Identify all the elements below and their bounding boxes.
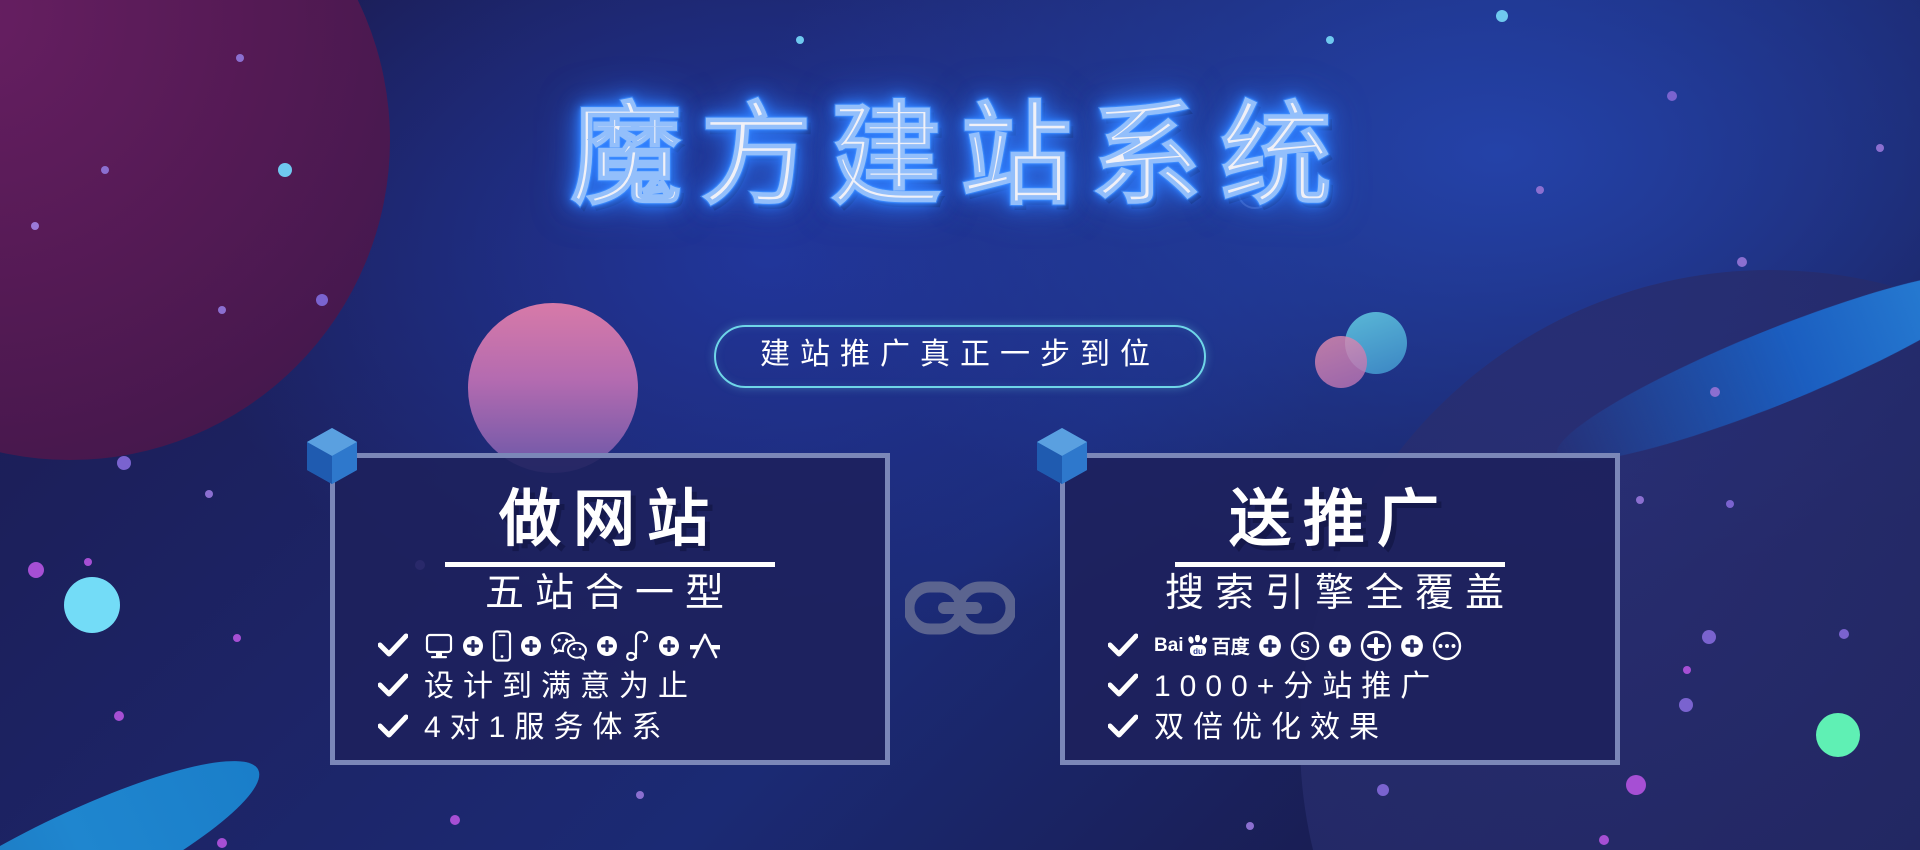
- card-left-title: 做网站: [499, 487, 721, 552]
- decor-dot: [1377, 784, 1389, 796]
- card-left-feature-icons: [366, 630, 854, 662]
- purple-blob-shape: [0, 0, 390, 460]
- card-left-feature-3: 4对1服务体系: [366, 711, 854, 744]
- decor-dot: [1496, 10, 1508, 22]
- plus-icon: [520, 635, 542, 657]
- decor-dot: [217, 838, 227, 848]
- check-icon: [378, 673, 408, 699]
- search-engine-icon-list: Bai du 百度: [1154, 630, 1462, 662]
- card-right-feature-2: 1000+分站推广: [1096, 670, 1584, 703]
- decor-dot: [114, 711, 124, 721]
- decor-dot: [218, 306, 226, 314]
- decor-dot: [31, 222, 39, 230]
- app-store-icon: [688, 631, 722, 661]
- decor-dot: [1726, 500, 1734, 508]
- decor-dot: [1816, 713, 1860, 757]
- decor-dot: [1683, 666, 1691, 674]
- comet-streak-left: [0, 728, 278, 850]
- more-icon: [1432, 631, 1462, 661]
- title-block: 魔方建站系统: [0, 96, 1920, 217]
- card-left-feature-2: 设计到满意为止: [366, 670, 854, 703]
- decor-dot: [796, 36, 804, 44]
- decor-dot: [1246, 822, 1254, 830]
- decor-dot: [233, 634, 241, 642]
- decor-dot: [84, 558, 92, 566]
- decor-dot: [1326, 36, 1334, 44]
- decor-dot: [117, 456, 131, 470]
- page-title: 魔方建站系统: [570, 96, 1350, 217]
- card-right-feature-3-text: 双倍优化效果: [1154, 711, 1388, 744]
- card-free-promotion[interactable]: 送推广 搜索引擎全覆盖 Bai du: [1060, 453, 1620, 765]
- plus-icon: [596, 635, 618, 657]
- decor-dot: [450, 815, 460, 825]
- decor-dot: [205, 490, 213, 498]
- decor-dot: [1737, 257, 1747, 267]
- check-icon: [378, 714, 408, 740]
- decor-dot: [1710, 387, 1720, 397]
- link-icon: [905, 577, 1015, 639]
- decor-dot: [636, 791, 644, 799]
- card-left-content: 做网站 五站合一型: [348, 471, 872, 747]
- decor-dot: [1679, 698, 1693, 712]
- promo-banner: 魔方建站系统 建站推广真正一步到位 做网站 五站合一型: [0, 0, 1920, 850]
- check-icon: [1108, 673, 1138, 699]
- card-right-feature-2-text: 1000+分站推广: [1154, 670, 1439, 703]
- card-make-website[interactable]: 做网站 五站合一型: [330, 453, 890, 765]
- baidu-paw-icon: du: [1186, 635, 1210, 657]
- baidu-latin-text: Bai: [1154, 635, 1184, 657]
- plus-icon: [1400, 634, 1424, 658]
- decor-dot: [236, 54, 244, 62]
- card-left-subtitle: 五站合一型: [485, 571, 735, 618]
- platform-icon-list: [424, 630, 722, 662]
- 360-search-icon: [1360, 630, 1392, 662]
- svg-text:du: du: [1193, 647, 1203, 656]
- music-note-icon: [626, 630, 650, 662]
- card-right-content: 送推广 搜索引擎全覆盖 Bai du: [1078, 471, 1602, 747]
- check-icon: [378, 633, 408, 659]
- decor-dot: [1626, 775, 1646, 795]
- baidu-logo: Bai du 百度: [1154, 632, 1250, 659]
- decor-dot: [28, 562, 44, 578]
- wechat-icon: [550, 631, 588, 661]
- subtitle-badge: 建站推广真正一步到位: [714, 325, 1206, 388]
- card-right-divider: [1175, 562, 1505, 567]
- card-left-divider: [445, 562, 775, 567]
- decor-dot: [1839, 629, 1849, 639]
- check-icon: [1108, 633, 1138, 659]
- decor-dot: [1702, 630, 1716, 644]
- svg-text:S: S: [1300, 637, 1310, 657]
- sogou-icon: S: [1290, 631, 1320, 661]
- plus-icon: [658, 635, 680, 657]
- card-right-feature-icons: Bai du 百度: [1096, 630, 1584, 662]
- card-left-feature-2-text: 设计到满意为止: [424, 670, 697, 703]
- decor-dot: [64, 577, 120, 633]
- decor-dot: [1636, 496, 1644, 504]
- card-right-title: 送推广: [1229, 487, 1451, 552]
- decor-dot: [316, 294, 328, 306]
- monitor-icon: [424, 631, 454, 661]
- card-right-subtitle: 搜索引擎全覆盖: [1165, 571, 1515, 618]
- card-right-feature-3: 双倍优化效果: [1096, 711, 1584, 744]
- card-left-feature-3-text: 4对1服务体系: [424, 711, 670, 744]
- plus-icon: [462, 635, 484, 657]
- decor-dot: [1599, 835, 1609, 845]
- check-icon: [1108, 714, 1138, 740]
- smartphone-icon: [492, 630, 512, 662]
- subtitle-block: 建站推广真正一步到位: [0, 325, 1920, 388]
- baidu-cn-text: 百度: [1212, 632, 1250, 659]
- plus-icon: [1258, 634, 1282, 658]
- plus-icon: [1328, 634, 1352, 658]
